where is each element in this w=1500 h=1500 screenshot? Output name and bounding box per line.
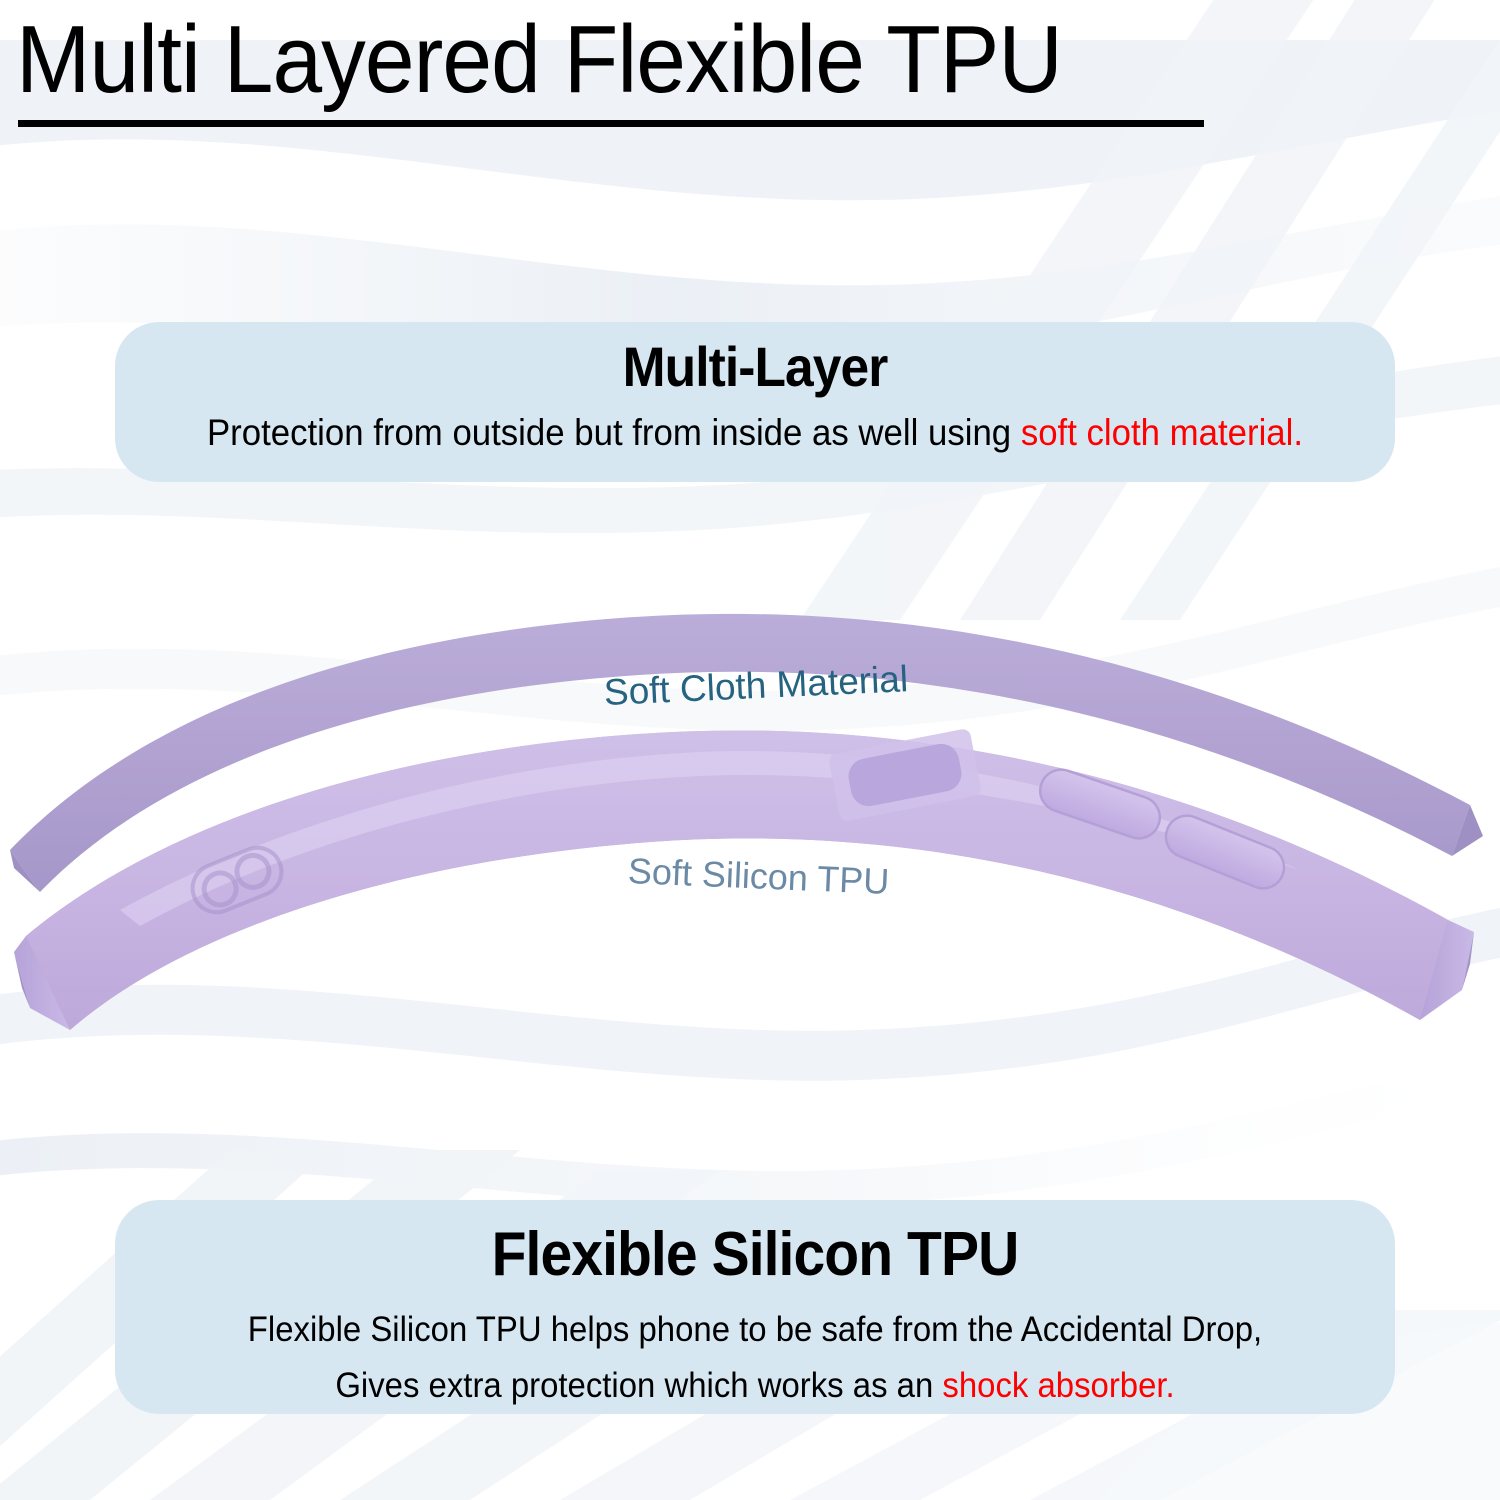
card-body-highlight: shock absorber. (942, 1366, 1174, 1405)
card-body-text: Protection from outside but from inside … (207, 412, 1021, 453)
card-heading-multi-layer: Multi-Layer (190, 338, 1320, 396)
card-body-multi-layer: Protection from outside but from inside … (178, 410, 1332, 456)
info-card-flexible-silicon-tpu: Flexible Silicon TPU Flexible Silicon TP… (115, 1200, 1395, 1414)
card-heading-flexible-tpu: Flexible Silicon TPU (190, 1222, 1320, 1288)
info-card-multi-layer: Multi-Layer Protection from outside but … (115, 322, 1395, 482)
card-body-line-1: Flexible Silicon TPU helps phone to be s… (178, 1302, 1332, 1358)
card-body-flexible-tpu: Flexible Silicon TPU helps phone to be s… (178, 1302, 1332, 1414)
card-body-line-2: Gives extra protection which works as an… (178, 1358, 1332, 1414)
phone-case-cross-section-illustration (0, 560, 1500, 1080)
page-title: Multi Layered Flexible TPU (16, 8, 1132, 112)
card-body-text: Gives extra protection which works as an (335, 1366, 942, 1405)
page-header: Multi Layered Flexible TPU (16, 8, 1216, 127)
card-body-highlight: soft cloth material. (1021, 412, 1303, 453)
title-underline-rule (18, 120, 1204, 127)
